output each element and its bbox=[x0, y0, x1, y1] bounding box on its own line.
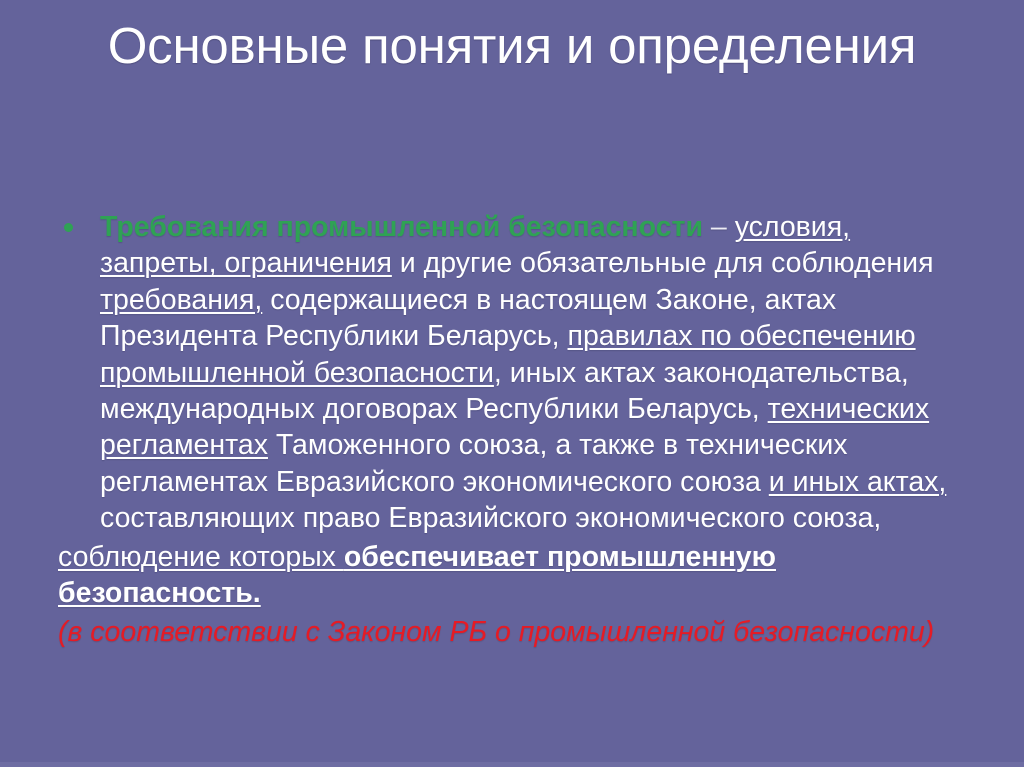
bullet-dot-icon bbox=[64, 223, 73, 232]
bullet-list-item: Требования промышленной безопасности – у… bbox=[0, 209, 1024, 537]
definition-dash: – bbox=[703, 211, 735, 243]
conclusion-paragraph: соблюдение которых обеспечивает промышле… bbox=[0, 539, 1024, 612]
definition-term: Требования промышленной безопасности bbox=[100, 211, 703, 243]
page-title: Основные понятия и определения bbox=[60, 14, 964, 78]
definition-run-10: составляющих право Евразийского экономич… bbox=[100, 502, 881, 534]
conclusion-run-1: соблюдение которых bbox=[58, 541, 344, 573]
definition-run-2: и другие обязательные для соблюдения bbox=[392, 247, 934, 279]
definition-run-9: и иных актах, bbox=[769, 466, 947, 498]
slide-canvas: Основные понятия и определения Требовани… bbox=[0, 0, 1024, 767]
definition-run-3: требования, bbox=[100, 284, 262, 316]
source-citation: (в соответствии с Законом РБ о промышлен… bbox=[0, 614, 1024, 650]
slide-body: Требования промышленной безопасности – у… bbox=[0, 209, 1024, 651]
